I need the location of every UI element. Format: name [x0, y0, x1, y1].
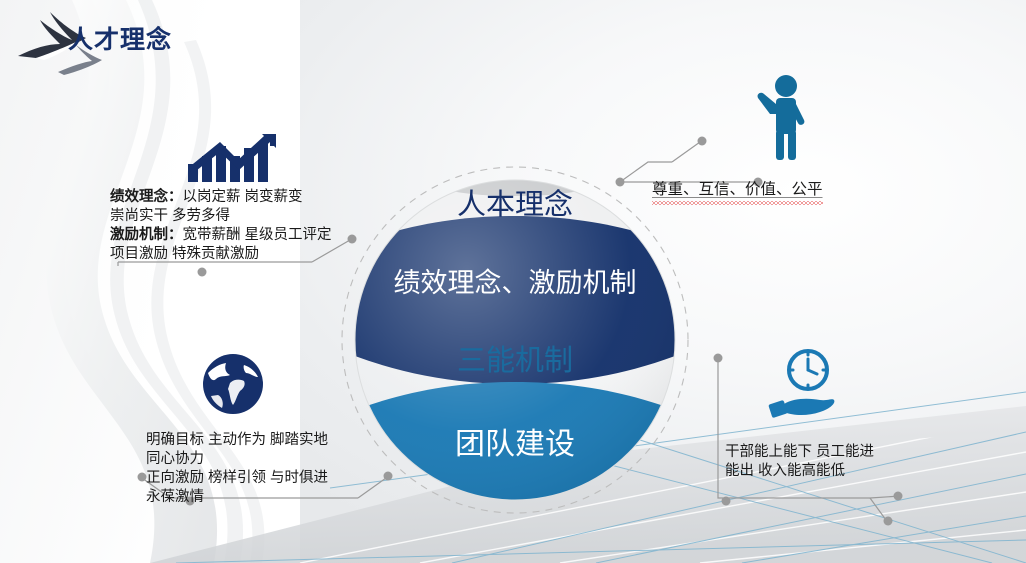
- slide-canvas: 人才理念: [0, 0, 1026, 563]
- callout-line: 正向激励 榜样引领 与时俱进: [146, 469, 328, 488]
- globe-icon: [200, 351, 266, 422]
- sphere-band-label-3: 三能机制: [457, 344, 573, 377]
- callout-line-body: 尊重、互信、价值、公平: [652, 181, 823, 198]
- clock-in-hand-icon: [768, 346, 846, 425]
- callout-line: 同心协力: [146, 450, 328, 469]
- callout-line-body: 明确目标 主动作为 脚踏实地: [146, 432, 328, 448]
- callout-line-body: 能出 收入能高能低: [725, 463, 845, 479]
- callout-line: 能出 收入能高能低: [725, 462, 874, 481]
- page-title: 人才理念: [68, 20, 172, 56]
- spellcheck-underline: [652, 201, 823, 205]
- callout-line: 项目激励 特殊贡献激励: [110, 245, 332, 264]
- sphere-band-label-1: 人本理念: [457, 188, 573, 221]
- callout-line: 明确目标 主动作为 脚踏实地: [146, 431, 328, 450]
- person-raising-hand-icon: [748, 74, 818, 165]
- callout-mechanism-text: 干部能上能下 员工能进 能出 收入能高能低: [725, 443, 874, 481]
- callout-line-body: 崇尚实干 多劳多得: [110, 208, 230, 224]
- callout-line-body: 以岗定薪 岗变薪变: [183, 189, 303, 205]
- callout-team-text: 明确目标 主动作为 脚踏实地 同心协力 正向激励 榜样引领 与时俱进 永葆激情: [146, 431, 328, 508]
- callout-line-body: 永葆激情: [146, 489, 204, 505]
- sphere-band-label-4: 团队建设: [455, 428, 575, 461]
- callout-line-label: 绩效理念：: [110, 189, 183, 205]
- callout-line: 尊重、互信、价值、公平: [652, 180, 823, 200]
- talent-concept-sphere: 人本理念 绩效理念、激励机制 三能机制 团队建设: [330, 158, 700, 522]
- callout-respect-text: 尊重、互信、价值、公平: [652, 180, 823, 200]
- callout-line-body: 干部能上能下 员工能进: [725, 444, 874, 460]
- callout-line-body: 项目激励 特殊贡献激励: [110, 246, 259, 262]
- callout-line-body: 正向激励 榜样引领 与时俱进: [146, 470, 328, 486]
- callout-line-label: 激励机制：: [110, 227, 183, 243]
- sphere-band-label-2: 绩效理念、激励机制: [394, 268, 637, 298]
- callout-line: 永葆激情: [146, 488, 328, 507]
- bar-chart-growth-icon: [186, 134, 276, 189]
- callout-line-body: 宽带薪酬 星级员工评定: [183, 227, 332, 243]
- callout-line: 绩效理念：以岗定薪 岗变薪变: [110, 188, 332, 207]
- callout-line-body: 同心协力: [146, 451, 204, 467]
- callout-performance-text: 绩效理念：以岗定薪 岗变薪变 崇尚实干 多劳多得 激励机制：宽带薪酬 星级员工评…: [110, 188, 332, 265]
- callout-line: 崇尚实干 多劳多得: [110, 207, 332, 226]
- callout-line: 激励机制：宽带薪酬 星级员工评定: [110, 226, 332, 245]
- callout-line: 干部能上能下 员工能进: [725, 443, 874, 462]
